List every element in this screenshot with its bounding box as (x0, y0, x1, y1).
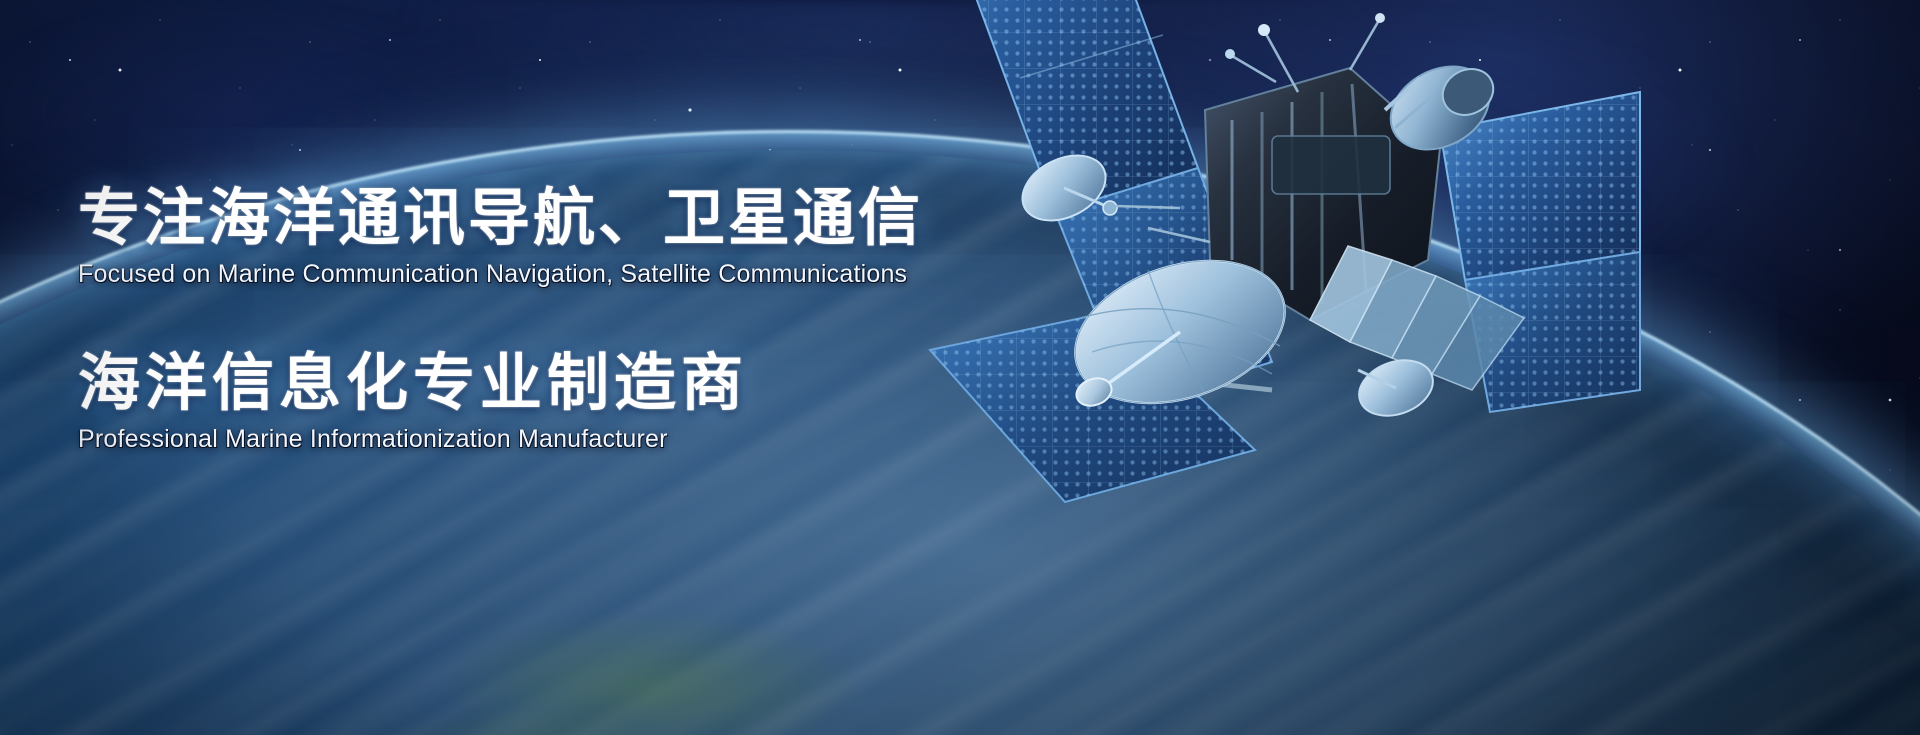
headline-group-primary: 专注海洋通讯导航、卫星通信 Focused on Marine Communic… (78, 186, 1078, 289)
hero-banner: 专注海洋通讯导航、卫星通信 Focused on Marine Communic… (0, 0, 1920, 735)
mast-tip-node (1225, 49, 1235, 59)
headline-chinese-primary: 专注海洋通讯导航、卫星通信 (78, 186, 1078, 252)
mast-tip-node (1375, 13, 1385, 23)
headline-english-primary: Focused on Marine Communication Navigati… (78, 260, 1078, 289)
headline-english-secondary: Professional Marine Informationization M… (78, 425, 1078, 454)
headline-group-secondary: 海洋信息化专业制造商 Professional Marine Informati… (78, 351, 1078, 455)
headline-chinese-secondary: 海洋信息化专业制造商 (78, 351, 1078, 417)
mast-tip-node (1258, 24, 1270, 36)
headline-copy-block: 专注海洋通讯导航、卫星通信 Focused on Marine Communic… (78, 186, 1078, 516)
